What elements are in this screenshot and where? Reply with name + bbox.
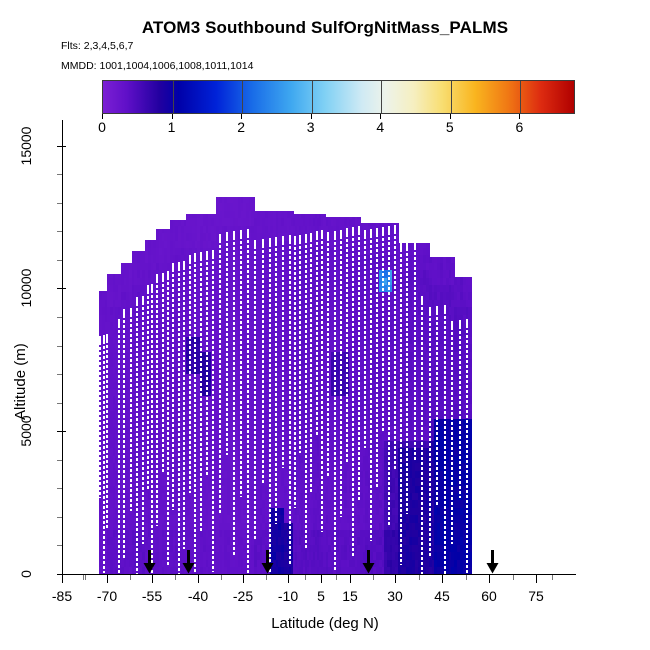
subtitle-flights: Flts: 2,3,4,5,6,7 (61, 40, 133, 52)
colorbar-separator (520, 81, 521, 113)
colorbar-separator (381, 81, 382, 113)
heatmap-field (62, 120, 575, 574)
colorbar-separator (451, 81, 452, 113)
colorbar-separator (312, 81, 313, 113)
colorbar-separator (242, 81, 243, 113)
x-axis-line (62, 574, 576, 575)
plot-area (62, 120, 575, 574)
subtitle-dates: MMDD: 1001,1004,1006,1008,1011,1014 (61, 60, 253, 72)
heatmap-cell (251, 197, 254, 203)
colorbar-gradient (103, 81, 574, 113)
colorbar-separator (173, 81, 174, 113)
page-title: ATOM3 Southbound SulfOrgNitMass_PALMS (0, 18, 650, 38)
colorbar (102, 80, 575, 114)
heatmap-cell (251, 203, 254, 211)
figure-canvas: ATOM3 Southbound SulfOrgNitMass_PALMS Fl… (0, 0, 650, 650)
colorbar-box (102, 80, 575, 114)
heatmap-cell (357, 217, 360, 219)
